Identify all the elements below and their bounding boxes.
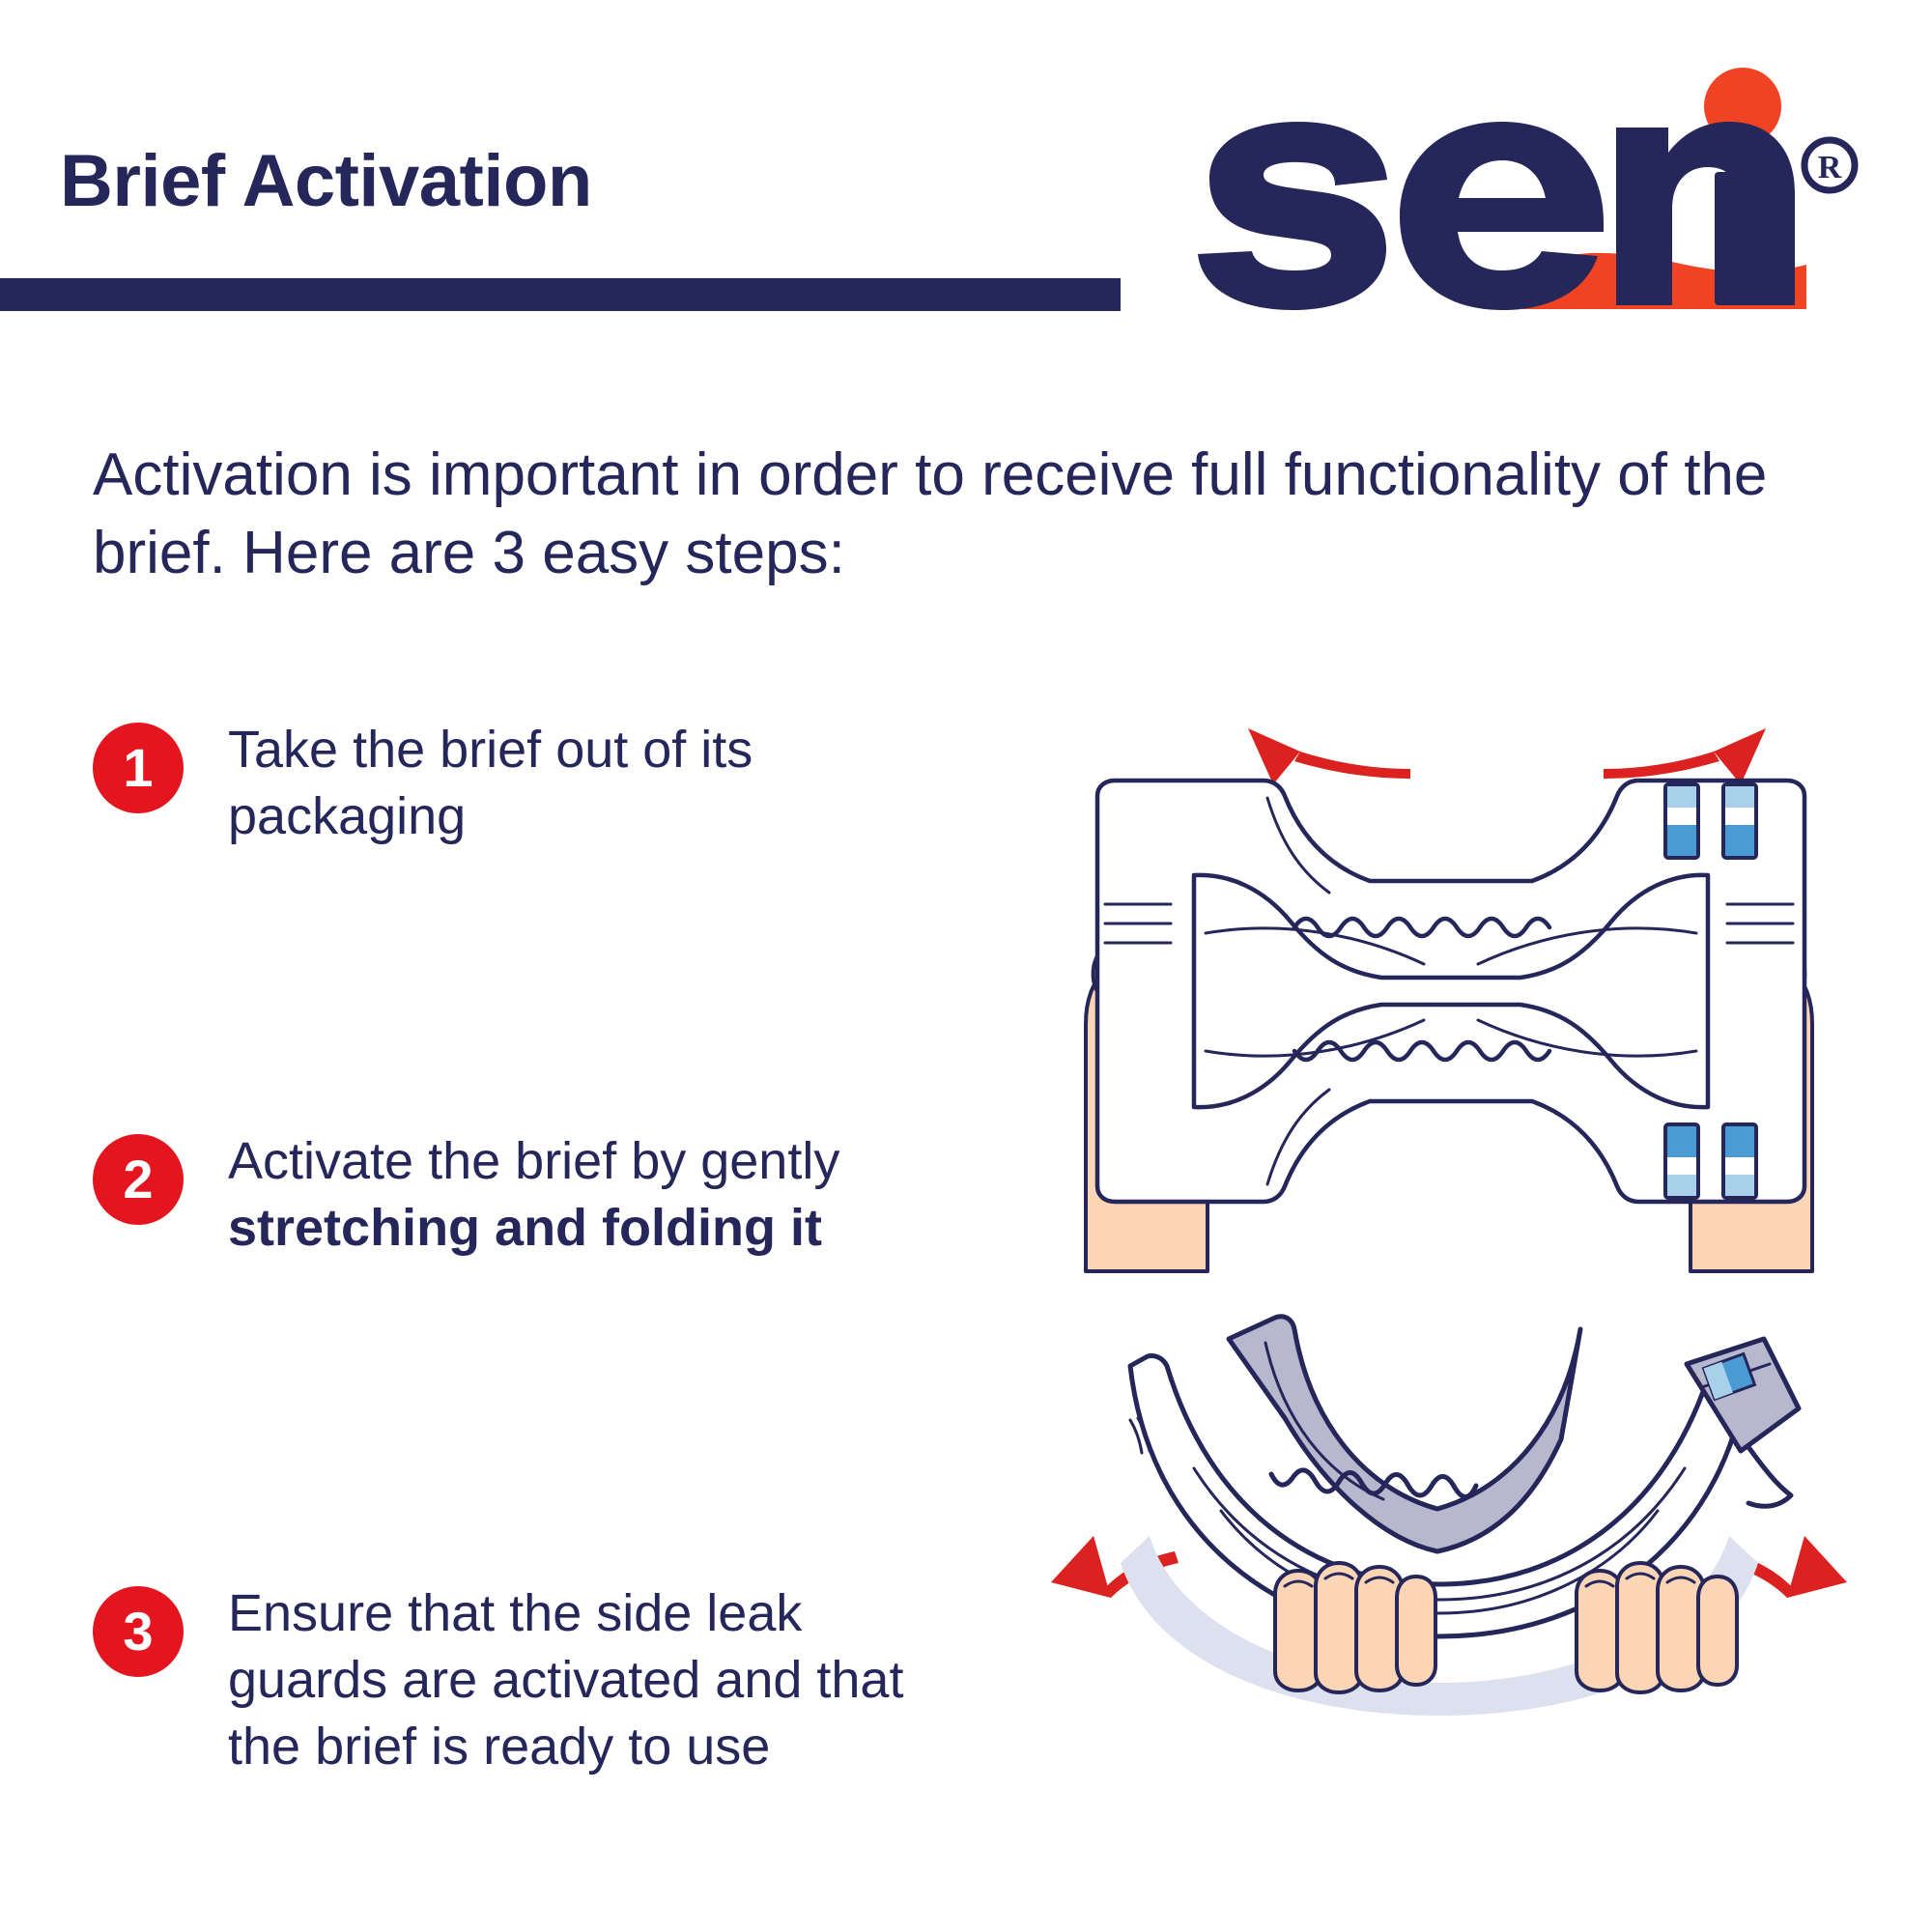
step-number-badge-1: 1 <box>93 723 184 813</box>
left-hand-fingers <box>1275 1563 1435 1692</box>
step-text-2-emphasis: stretching and folding it <box>228 1199 822 1257</box>
logo-letter-e <box>1400 122 1604 310</box>
step-number-badge-3: 3 <box>93 1586 184 1677</box>
header: Brief Activation R <box>0 0 1932 348</box>
step-number-badge-2: 2 <box>93 1134 184 1225</box>
stretch-arrows-icon <box>1248 728 1766 784</box>
step-item-3: 3 Ensure that the side leak guards are a… <box>93 1580 904 1780</box>
step-text-1-plain: Take the brief out of its packaging <box>228 721 753 845</box>
registered-trademark-icon: R <box>1804 140 1855 190</box>
right-hand-fingers <box>1577 1563 1737 1692</box>
illustration-brief-folded-u-shape: .o2 { fill:none; stroke:#25265a; stroke-… <box>985 1304 1913 1768</box>
logo-letter-i <box>1715 172 1771 305</box>
infographic-page: Brief Activation R <box>0 0 1932 1932</box>
title-underline-bar <box>0 278 1121 311</box>
fastener-tab <box>1665 784 1698 858</box>
svg-text:R: R <box>1818 150 1842 185</box>
step-text-1: Take the brief out of its packaging <box>228 717 904 850</box>
fastener-tab <box>1665 1124 1698 1198</box>
seni-logo: R <box>1188 66 1864 317</box>
fastener-tab <box>1723 784 1756 858</box>
logo-letter-s <box>1198 122 1387 310</box>
step-text-2-plain: Activate the brief by gently <box>228 1132 839 1190</box>
side-leak-guard <box>1229 1317 1580 1551</box>
step-item-1: 1 Take the brief out of its packaging <box>93 717 904 850</box>
illustration-brief-stretched-between-hands: .ol { fill:none; stroke:#25265a; stroke-… <box>1005 692 1893 1291</box>
step-text-2: Activate the brief by gently stretching … <box>228 1128 904 1262</box>
step-item-2: 2 Activate the brief by gently stretchin… <box>93 1128 904 1262</box>
step-text-3-plain: Ensure that the side leak guards are act… <box>228 1584 903 1776</box>
intro-paragraph: Activation is important in order to rece… <box>93 437 1774 592</box>
step-text-3: Ensure that the side leak guards are act… <box>228 1580 904 1780</box>
fastener-tab <box>1723 1124 1756 1198</box>
page-title: Brief Activation <box>60 145 592 218</box>
